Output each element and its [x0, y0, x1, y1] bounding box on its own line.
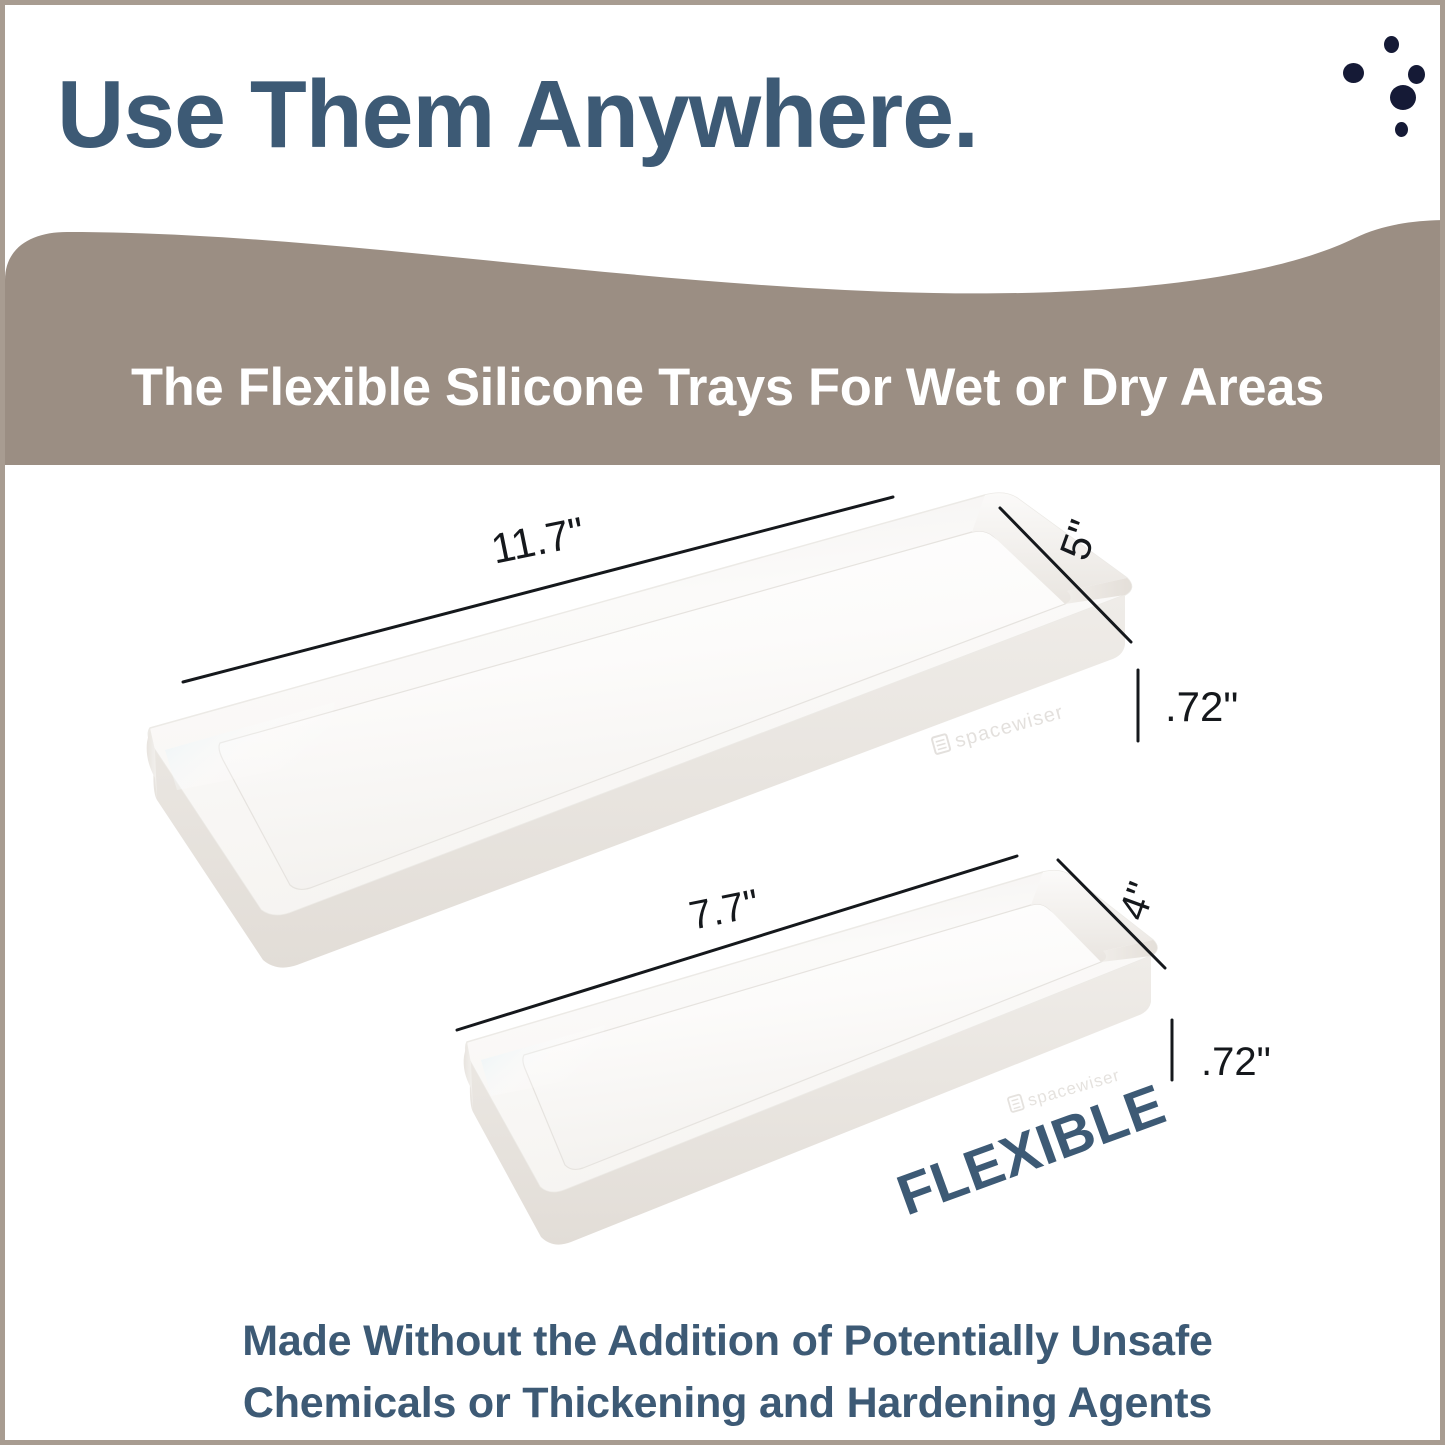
dimension-label-small-height: .72" — [1201, 1040, 1271, 1085]
product-infographic: Use Them Anywhere. The Flexible Silicone… — [0, 0, 1445, 1445]
footer-line-2: Chemicals or Thickening and Hardening Ag… — [5, 1372, 1445, 1434]
subheadline-banner: The Flexible Silicone Trays For Wet or D… — [5, 220, 1445, 465]
dot-icon — [1343, 63, 1364, 83]
dot-icon — [1384, 36, 1399, 53]
small-silicone-tray: spacewiser — [464, 871, 1157, 1245]
dot-icon — [1408, 65, 1425, 84]
dot-icon — [1390, 85, 1416, 110]
footer-text-block: Made Without the Addition of Potentially… — [5, 1310, 1445, 1434]
product-illustration: spacewiser — [5, 460, 1445, 1305]
footer-line-1: Made Without the Addition of Potentially… — [5, 1310, 1445, 1372]
subheadline-text: The Flexible Silicone Trays For Wet or D… — [131, 357, 1324, 418]
banner-text-wrap: The Flexible Silicone Trays For Wet or D… — [5, 220, 1445, 465]
dot-icon — [1395, 122, 1408, 137]
dot-cluster-decoration — [1310, 30, 1440, 180]
page-title: Use Them Anywhere. — [57, 60, 978, 170]
dimension-label-large-height: .72" — [1165, 683, 1238, 731]
